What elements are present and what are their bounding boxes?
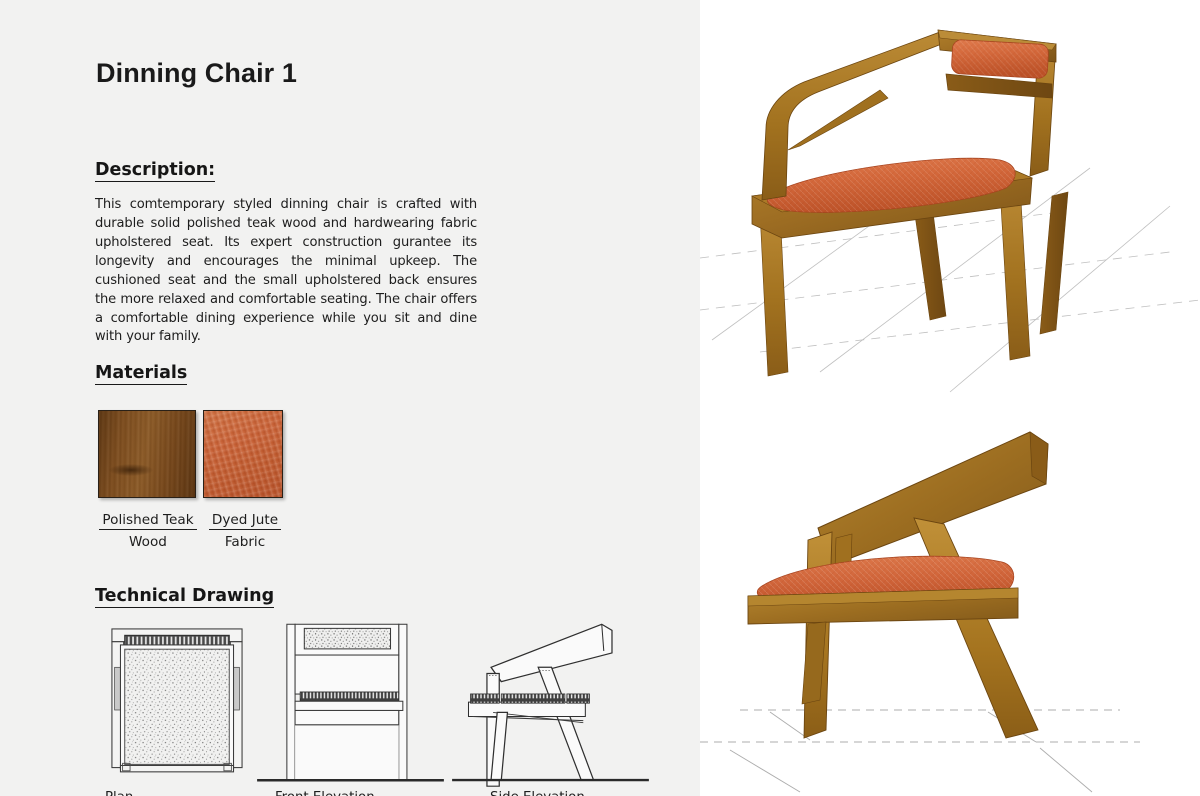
material-dyed-jute-fabric: Dyed Jute Fabric (203, 410, 335, 550)
teak-wood-swatch (98, 410, 196, 498)
materials-section: Materials Polished Teak Wood Dyed Jute F… (95, 363, 425, 590)
technical-drawing-heading: Technical Drawing (95, 586, 274, 608)
material-label-line2: Wood (98, 534, 198, 550)
product-spec-sheet: Dinning Chair 1 Description: This comtem… (0, 0, 1200, 796)
description-section: Description: This comtemporary styled di… (95, 160, 477, 347)
chair-render-perspective (700, 0, 1200, 400)
technical-views-list: Plan (93, 614, 673, 796)
description-heading: Description: (95, 160, 215, 182)
side-elevation-caption: Side Elevation (490, 790, 585, 796)
plan-caption: Plan (105, 790, 133, 796)
technical-drawing-section: Technical Drawing (95, 586, 655, 608)
material-label-line1: Dyed Jute (209, 512, 281, 530)
front-elevation-caption: Front Elevation (275, 790, 375, 796)
materials-heading: Materials (95, 363, 187, 385)
material-label-line1: Polished Teak (99, 512, 196, 530)
description-body: This comtemporary styled dinning chair i… (95, 196, 477, 347)
jute-fabric-caption: Dyed Jute Fabric (193, 509, 297, 550)
technical-view-side-elevation: Side Elevation (448, 614, 653, 795)
teak-wood-caption: Polished Teak Wood (98, 509, 198, 550)
chair-side-illustration (700, 400, 1200, 796)
page-title: Dinning Chair 1 (96, 58, 297, 89)
side-elevation-drawing (448, 614, 653, 790)
technical-view-front-elevation: Front Elevation (253, 614, 448, 796)
plan-drawing (97, 614, 257, 796)
chair-render-side (700, 400, 1200, 796)
chair-perspective-illustration (700, 0, 1200, 400)
front-elevation-drawing (253, 614, 448, 791)
jute-fabric-swatch (203, 410, 283, 498)
materials-swatch-list: Polished Teak Wood Dyed Jute Fabric (95, 410, 425, 590)
material-label-line2: Fabric (193, 534, 297, 550)
technical-view-plan: Plan (97, 614, 257, 796)
